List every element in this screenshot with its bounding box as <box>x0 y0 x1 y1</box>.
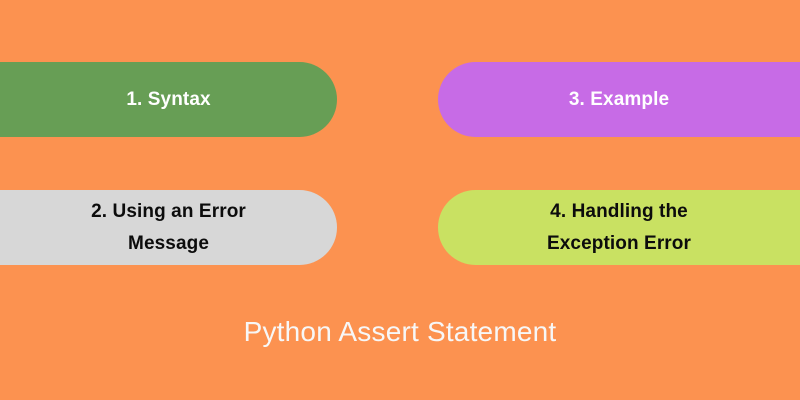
pill-example-label: 3. Example <box>438 84 800 116</box>
pill-handling-the-exception-error-label: 4. Handling the Exception Error <box>438 196 800 260</box>
pill-using-an-error-message-label: 2. Using an Error Message <box>0 196 337 260</box>
pill-syntax[interactable]: 1. Syntax <box>0 62 337 137</box>
infographic-canvas: 1. Syntax 3. Example 2. Using an Error M… <box>0 0 800 400</box>
pill-example[interactable]: 3. Example <box>438 62 800 137</box>
pill-using-an-error-message[interactable]: 2. Using an Error Message <box>0 190 337 265</box>
pill-handling-the-exception-error[interactable]: 4. Handling the Exception Error <box>438 190 800 265</box>
pill-syntax-label: 1. Syntax <box>0 84 337 116</box>
page-title: Python Assert Statement <box>0 312 800 352</box>
